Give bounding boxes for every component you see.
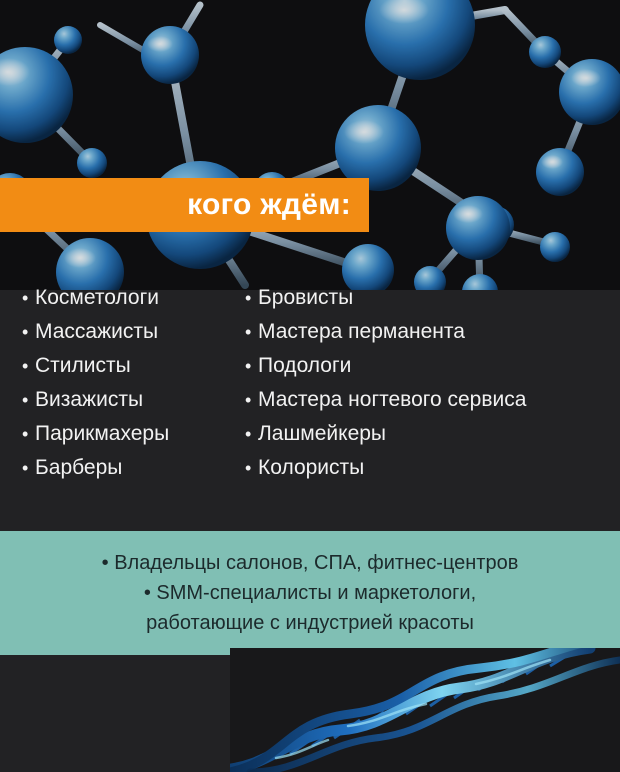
list-item-label: Косметологи [35, 286, 159, 310]
list-item-label: Массажисты [35, 320, 158, 344]
bullet-icon: • [245, 323, 258, 341]
bullet-icon: • [22, 425, 35, 443]
bullet-icon: • [245, 459, 258, 477]
list-left-column: • Косметологи • Массажисты • Стилисты • … [22, 286, 169, 490]
list-item: • Подологи [245, 354, 526, 388]
bullet-icon: • [22, 357, 35, 375]
list-item-label: Подологи [258, 354, 351, 378]
list-item: • Стилисты [22, 354, 169, 388]
list-item-label: Стилисты [35, 354, 131, 378]
dna-helix-illustration [230, 648, 620, 772]
bullet-icon: • [22, 289, 35, 307]
teal-line: • Владельцы салонов, СПА, фитнес-центров [102, 548, 519, 578]
list-item-label: Мастера перманента [258, 320, 465, 344]
list-item: • Бровисты [245, 286, 526, 320]
molecule-svg [0, 0, 620, 290]
list-right-column: • Бровисты • Мастера перманента • Подоло… [245, 286, 526, 490]
teal-audience-panel: • Владельцы салонов, СПА, фитнес-центров… [0, 531, 620, 655]
teal-line: • SMM-специалисты и маркетологи, [144, 578, 476, 608]
list-item: • Косметологи [22, 286, 169, 320]
bullet-icon: • [22, 459, 35, 477]
list-item-label: Колористы [258, 456, 364, 480]
bullet-icon: • [245, 391, 258, 409]
list-item: • Колористы [245, 456, 526, 490]
bullet-icon: • [22, 323, 35, 341]
list-item: • Мастера ногтевого сервиса [245, 388, 526, 422]
list-item: • Массажисты [22, 320, 169, 354]
list-item-label: Парикмахеры [35, 422, 169, 446]
list-item-label: Бровисты [258, 286, 353, 310]
bullet-icon: • [245, 289, 258, 307]
list-item-label: Лашмейкеры [258, 422, 386, 446]
bullet-icon: • [245, 425, 258, 443]
bullet-icon: • [22, 391, 35, 409]
list-item-label: Визажисты [35, 388, 143, 412]
poster-root: кого ждём: • Косметологи • Массажисты • … [0, 0, 620, 772]
bullet-icon: • [245, 357, 258, 375]
list-item-label: Мастера ногтевого сервиса [258, 388, 526, 412]
molecule-illustration [0, 0, 620, 290]
dna-helix-svg [230, 648, 620, 772]
list-item: • Мастера перманента [245, 320, 526, 354]
list-item: • Барберы [22, 456, 169, 490]
list-item: • Лашмейкеры [245, 422, 526, 456]
heading-banner: кого ждём: [0, 178, 369, 232]
list-item: • Визажисты [22, 388, 169, 422]
page-title: кого ждём: [187, 188, 351, 222]
teal-line: работающие с индустрией красоты [146, 608, 474, 638]
list-item-label: Барберы [35, 456, 122, 480]
list-item: • Парикмахеры [22, 422, 169, 456]
